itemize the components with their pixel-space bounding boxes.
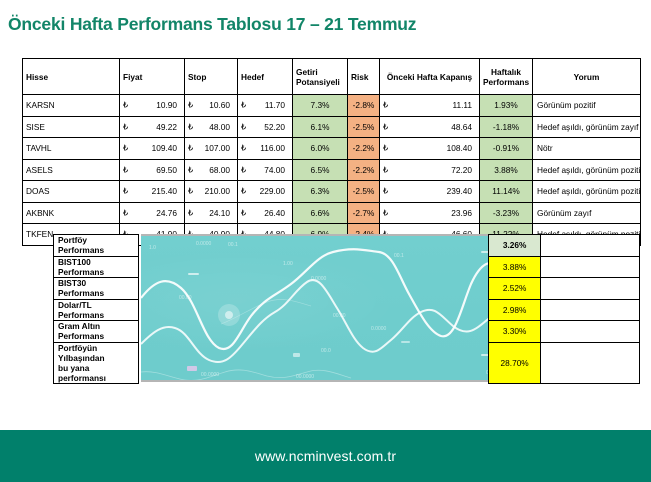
summary-label: Portföyün Yılbaşındanbu yana performansı bbox=[54, 342, 139, 383]
cell-hedef: ₺11.70 bbox=[238, 95, 293, 117]
summary-row: Gram Altın Performans3.30% bbox=[54, 321, 640, 343]
cell-fiyat: ₺109.40 bbox=[120, 138, 185, 160]
cell-getiri-potansiyeli: 6.0% bbox=[293, 138, 348, 160]
table-row: AKBNK₺24.76₺24.10₺26.406.6%-2.7%₺23.96-3… bbox=[23, 202, 641, 224]
lira-icon: ₺ bbox=[383, 208, 388, 217]
summary-section: 1.0 0.0000 00.00 00.1 1.00 0.0000 00.00 … bbox=[53, 234, 640, 382]
lira-icon: ₺ bbox=[241, 101, 246, 110]
table-row: ASELS₺69.50₺68.00₺74.006.5%-2.2%₺72.203.… bbox=[23, 159, 641, 181]
cell-risk: -2.2% bbox=[348, 138, 380, 160]
lira-icon: ₺ bbox=[383, 144, 388, 153]
cell-onceki-hafta-kapanis: ₺11.11 bbox=[380, 95, 480, 117]
summary-value: 3.26% bbox=[489, 235, 541, 257]
lira-icon: ₺ bbox=[123, 187, 128, 196]
header-fiyat: Fiyat bbox=[120, 59, 185, 95]
header-getiri-potansiyeli: Getiri Potansiyeli bbox=[293, 59, 348, 95]
cell-fiyat: ₺215.40 bbox=[120, 181, 185, 203]
page-title: Önceki Hafta Performans Tablosu 17 – 21 … bbox=[8, 14, 416, 35]
cell-stop: ₺107.00 bbox=[185, 138, 238, 160]
summary-label: Gram Altın Performans bbox=[54, 321, 139, 343]
summary-label: Dolar/TL Performans bbox=[54, 299, 139, 321]
lira-icon: ₺ bbox=[188, 208, 193, 217]
lira-icon: ₺ bbox=[123, 101, 128, 110]
header-haftalik-performans: Haftalık Performans bbox=[480, 59, 533, 95]
table-row: KARSN₺10.90₺10.60₺11.707.3%-2.8%₺11.111.… bbox=[23, 95, 641, 117]
lira-icon: ₺ bbox=[241, 187, 246, 196]
cell-hisse: ASELS bbox=[23, 159, 120, 181]
header-haftalik-line2: Performans bbox=[483, 77, 529, 87]
lira-icon: ₺ bbox=[188, 122, 193, 131]
cell-fiyat: ₺49.22 bbox=[120, 116, 185, 138]
lira-icon: ₺ bbox=[188, 101, 193, 110]
cell-risk: -2.5% bbox=[348, 181, 380, 203]
table-row: TAVHL₺109.40₺107.00₺116.006.0%-2.2%₺108.… bbox=[23, 138, 641, 160]
header-risk: Risk bbox=[348, 59, 380, 95]
summary-label-line1: BIST30 Performans bbox=[58, 278, 134, 298]
summary-value: 2.52% bbox=[489, 278, 541, 300]
summary-row: Portföyün Yılbaşındanbu yana performansı… bbox=[54, 342, 640, 383]
header-getiri-line2: Potansiyeli bbox=[296, 77, 344, 87]
header-hisse: Hisse bbox=[23, 59, 120, 95]
summary-label-line1: Dolar/TL Performans bbox=[58, 300, 134, 320]
header-hedef: Hedef bbox=[238, 59, 293, 95]
summary-row: BIST30 Performans2.52% bbox=[54, 278, 640, 300]
cell-hisse: SISE bbox=[23, 116, 120, 138]
cell-hisse: KARSN bbox=[23, 95, 120, 117]
summary-chart-spacer bbox=[139, 278, 489, 300]
cell-haftalik-performans: 1.93% bbox=[480, 95, 533, 117]
table-row: DOAS₺215.40₺210.00₺229.006.3%-2.5%₺239.4… bbox=[23, 181, 641, 203]
header-yorum: Yorum bbox=[533, 59, 641, 95]
cell-yorum: Görünüm pozitif bbox=[533, 95, 641, 117]
footer-url[interactable]: www.ncminvest.com.tr bbox=[255, 448, 396, 464]
summary-blank-cell bbox=[540, 278, 639, 300]
cell-getiri-potansiyeli: 6.3% bbox=[293, 181, 348, 203]
cell-risk: -2.7% bbox=[348, 202, 380, 224]
lira-icon: ₺ bbox=[383, 122, 388, 131]
lira-icon: ₺ bbox=[383, 165, 388, 174]
summary-value: 2.98% bbox=[489, 299, 541, 321]
summary-value: 3.30% bbox=[489, 321, 541, 343]
cell-risk: -2.8% bbox=[348, 95, 380, 117]
summary-blank-cell bbox=[540, 235, 639, 257]
cell-yorum: Görünüm zayıf bbox=[533, 202, 641, 224]
summary-chart-spacer bbox=[139, 321, 489, 343]
summary-table: Portföy Performans3.26%BIST100 Performan… bbox=[53, 234, 640, 384]
performance-table-body: KARSN₺10.90₺10.60₺11.707.3%-2.8%₺11.111.… bbox=[23, 95, 641, 246]
summary-value: 3.88% bbox=[489, 256, 541, 278]
lira-icon: ₺ bbox=[383, 101, 388, 110]
cell-haftalik-performans: -0.91% bbox=[480, 138, 533, 160]
cell-onceki-hafta-kapanis: ₺108.40 bbox=[380, 138, 480, 160]
cell-stop: ₺210.00 bbox=[185, 181, 238, 203]
lira-icon: ₺ bbox=[123, 122, 128, 131]
lira-icon: ₺ bbox=[241, 144, 246, 153]
cell-getiri-potansiyeli: 6.6% bbox=[293, 202, 348, 224]
footer-bar: www.ncminvest.com.tr bbox=[0, 430, 651, 482]
cell-haftalik-performans: -3.23% bbox=[480, 202, 533, 224]
cell-fiyat: ₺24.76 bbox=[120, 202, 185, 224]
summary-blank-cell bbox=[540, 321, 639, 343]
summary-row: BIST100 Performans3.88% bbox=[54, 256, 640, 278]
summary-blank-cell bbox=[540, 299, 639, 321]
summary-label: Portföy Performans bbox=[54, 235, 139, 257]
cell-risk: -2.5% bbox=[348, 116, 380, 138]
summary-blank-cell bbox=[540, 342, 639, 383]
summary-row: Portföy Performans3.26% bbox=[54, 235, 640, 257]
header-onceki-hafta-kapanis: Önceki Hafta Kapanış bbox=[380, 59, 480, 95]
header-stop: Stop bbox=[185, 59, 238, 95]
cell-haftalik-performans: 3.88% bbox=[480, 159, 533, 181]
summary-chart-spacer bbox=[139, 256, 489, 278]
cell-haftalik-performans: 11.14% bbox=[480, 181, 533, 203]
cell-hedef: ₺116.00 bbox=[238, 138, 293, 160]
cell-fiyat: ₺69.50 bbox=[120, 159, 185, 181]
cell-hedef: ₺74.00 bbox=[238, 159, 293, 181]
cell-stop: ₺24.10 bbox=[185, 202, 238, 224]
summary-label-line1: Portföyün Yılbaşından bbox=[58, 343, 134, 363]
cell-onceki-hafta-kapanis: ₺239.40 bbox=[380, 181, 480, 203]
lira-icon: ₺ bbox=[241, 122, 246, 131]
lira-icon: ₺ bbox=[123, 208, 128, 217]
cell-stop: ₺68.00 bbox=[185, 159, 238, 181]
cell-risk: -2.2% bbox=[348, 159, 380, 181]
cell-onceki-hafta-kapanis: ₺23.96 bbox=[380, 202, 480, 224]
cell-getiri-potansiyeli: 7.3% bbox=[293, 95, 348, 117]
summary-label: BIST100 Performans bbox=[54, 256, 139, 278]
header-getiri-line1: Getiri bbox=[296, 67, 344, 77]
lira-icon: ₺ bbox=[123, 144, 128, 153]
cell-onceki-hafta-kapanis: ₺72.20 bbox=[380, 159, 480, 181]
slide-page: Önceki Hafta Performans Tablosu 17 – 21 … bbox=[0, 0, 651, 482]
cell-hedef: ₺52.20 bbox=[238, 116, 293, 138]
summary-label-line2: bu yana performansı bbox=[58, 363, 134, 383]
cell-hisse: DOAS bbox=[23, 181, 120, 203]
summary-label-line1: BIST100 Performans bbox=[58, 257, 134, 277]
summary-chart-spacer bbox=[139, 235, 489, 257]
performance-table: Hisse Fiyat Stop Hedef Getiri Potansiyel… bbox=[22, 58, 641, 246]
cell-fiyat: ₺10.90 bbox=[120, 95, 185, 117]
cell-yorum: Hedef aşıldı, görünüm pozitif bbox=[533, 181, 641, 203]
cell-hisse: TAVHL bbox=[23, 138, 120, 160]
cell-hisse: AKBNK bbox=[23, 202, 120, 224]
cell-onceki-hafta-kapanis: ₺48.64 bbox=[380, 116, 480, 138]
lira-icon: ₺ bbox=[241, 208, 246, 217]
cell-stop: ₺10.60 bbox=[185, 95, 238, 117]
lira-icon: ₺ bbox=[188, 144, 193, 153]
lira-icon: ₺ bbox=[188, 187, 193, 196]
cell-getiri-potansiyeli: 6.1% bbox=[293, 116, 348, 138]
cell-getiri-potansiyeli: 6.5% bbox=[293, 159, 348, 181]
summary-label-line1: Gram Altın Performans bbox=[58, 321, 134, 341]
summary-label: BIST30 Performans bbox=[54, 278, 139, 300]
summary-chart-spacer bbox=[139, 299, 489, 321]
lira-icon: ₺ bbox=[188, 165, 193, 174]
cell-yorum: Hedef aşıldı, görünüm pozitif bbox=[533, 159, 641, 181]
cell-hedef: ₺26.40 bbox=[238, 202, 293, 224]
summary-row: Dolar/TL Performans2.98% bbox=[54, 299, 640, 321]
summary-blank-cell bbox=[540, 256, 639, 278]
lira-icon: ₺ bbox=[241, 165, 246, 174]
summary-chart-spacer bbox=[139, 342, 489, 383]
summary-value: 28.70% bbox=[489, 342, 541, 383]
cell-haftalik-performans: -1.18% bbox=[480, 116, 533, 138]
cell-yorum: Nötr bbox=[533, 138, 641, 160]
cell-hedef: ₺229.00 bbox=[238, 181, 293, 203]
cell-stop: ₺48.00 bbox=[185, 116, 238, 138]
summary-table-body: Portföy Performans3.26%BIST100 Performan… bbox=[54, 235, 640, 384]
lira-icon: ₺ bbox=[383, 187, 388, 196]
lira-icon: ₺ bbox=[123, 165, 128, 174]
cell-yorum: Hedef aşıldı, görünüm zayıf bbox=[533, 116, 641, 138]
table-row: SISE₺49.22₺48.00₺52.206.1%-2.5%₺48.64-1.… bbox=[23, 116, 641, 138]
header-haftalik-line1: Haftalık bbox=[483, 67, 529, 77]
table-header-row: Hisse Fiyat Stop Hedef Getiri Potansiyel… bbox=[23, 59, 641, 95]
summary-label-line1: Portföy Performans bbox=[58, 235, 134, 255]
